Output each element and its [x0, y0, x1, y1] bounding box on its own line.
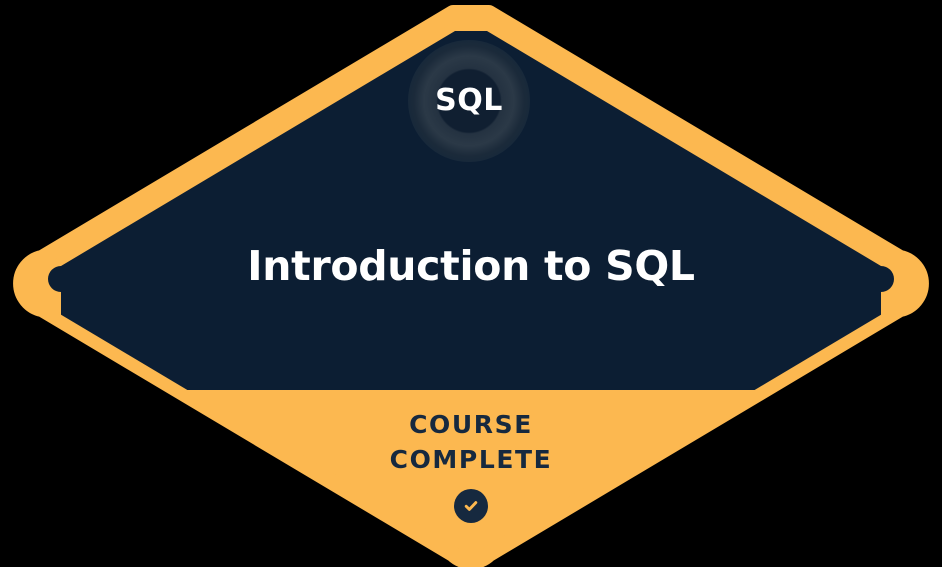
page-title: Introduction to SQL — [0, 243, 942, 290]
sql-emblem-label: SQL — [435, 86, 503, 116]
completion-status: COURSE COMPLETE — [0, 408, 942, 523]
course-completion-badge: SQL Introduction to SQL COURSE COMPLETE — [0, 0, 942, 567]
completion-label-line2: COMPLETE — [0, 443, 942, 478]
sql-ring-emblem: SQL — [408, 40, 530, 162]
completion-label-line1: COURSE — [0, 408, 942, 443]
check-circle-icon — [454, 489, 488, 523]
